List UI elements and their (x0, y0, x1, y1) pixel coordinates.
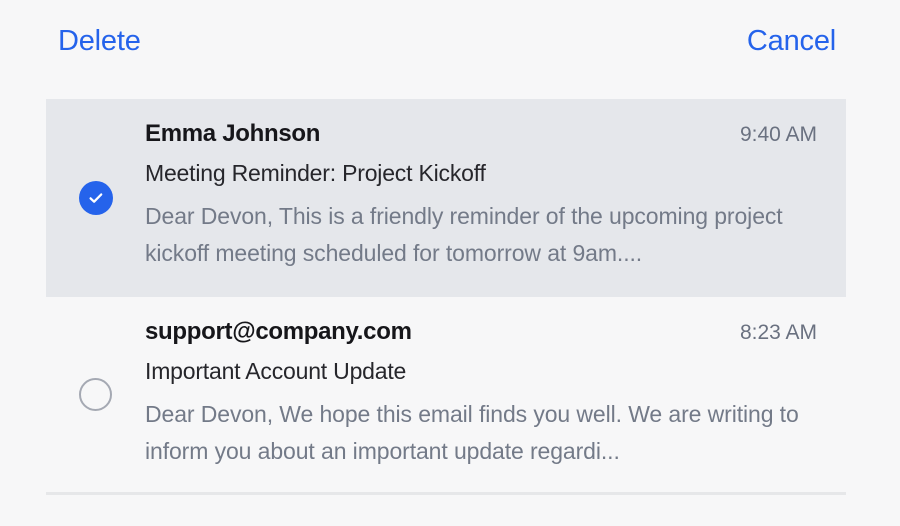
check-circle-filled-icon[interactable] (79, 181, 113, 215)
timestamp: 9:40 AM (740, 123, 817, 147)
email-preview: Dear Devon, This is a friendly reminder … (145, 198, 817, 273)
email-subject: Meeting Reminder: Project Kickoff (145, 160, 817, 187)
email-subject: Important Account Update (145, 358, 817, 385)
email-list: Emma Johnson 9:40 AM Meeting Reminder: P… (46, 99, 847, 495)
email-content: Emma Johnson 9:40 AM Meeting Reminder: P… (145, 99, 846, 297)
selection-control-cell[interactable] (46, 297, 145, 492)
circle-outline-icon[interactable] (79, 378, 112, 411)
cancel-button[interactable]: Cancel (747, 27, 836, 56)
timestamp: 8:23 AM (740, 321, 817, 345)
sender-name: Emma Johnson (145, 120, 320, 148)
email-preview: Dear Devon, We hope this email finds you… (145, 396, 817, 471)
list-item[interactable]: support@company.com 8:23 AM Important Ac… (46, 297, 846, 495)
email-content: support@company.com 8:23 AM Important Ac… (145, 297, 846, 492)
selection-action-bar: Delete Cancel (0, 0, 900, 82)
email-header-line: support@company.com 8:23 AM (145, 318, 817, 346)
sender-name: support@company.com (145, 318, 412, 346)
email-header-line: Emma Johnson 9:40 AM (145, 120, 817, 148)
email-selection-screen: Delete Cancel Emma Johnson 9:40 AM Meeti… (0, 0, 900, 526)
list-item[interactable]: Emma Johnson 9:40 AM Meeting Reminder: P… (46, 99, 846, 297)
selection-control-cell[interactable] (46, 99, 145, 297)
delete-button[interactable]: Delete (58, 27, 141, 56)
